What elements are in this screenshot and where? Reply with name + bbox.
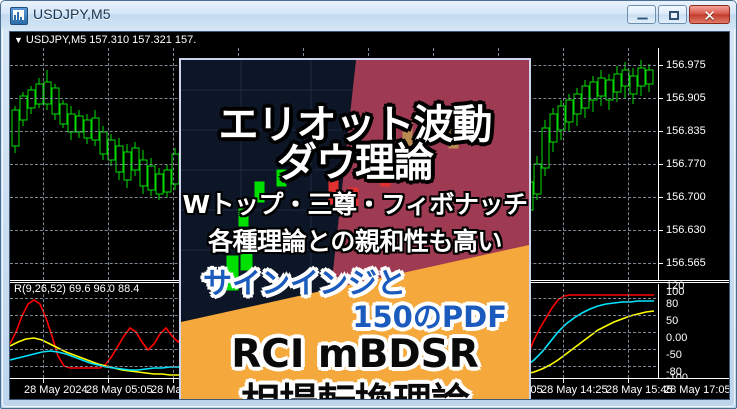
indicator-label: -50 (666, 349, 682, 361)
minimize-button[interactable] (627, 5, 656, 24)
price-axis: 156.975 156.905 156.835 156.770 156.700 … (658, 48, 730, 280)
time-label: 28 May 14:25 (541, 384, 608, 396)
title-bar: USDJPY,M5 ✕ (1, 1, 737, 29)
close-icon: ✕ (690, 7, 729, 25)
minimize-icon (637, 17, 648, 20)
price-label: 156.565 (666, 257, 706, 269)
chart-client-area[interactable]: ▼USDJPY,M5 157.310 157.321 157. (9, 31, 730, 400)
chevron-down-icon[interactable]: ▼ (14, 35, 23, 45)
time-label: 28 May 15:45 (606, 384, 673, 396)
price-label: 156.905 (666, 92, 706, 104)
chart-icon (10, 7, 28, 25)
overlay-line-7: RCI mBDSR (181, 332, 529, 377)
price-label: 156.700 (666, 191, 706, 203)
window-title: USDJPY,M5 (33, 6, 111, 22)
overlay-line-8: 相場転換理論 (181, 372, 529, 400)
indicator-label: 80 (666, 298, 678, 310)
overlay-line-3: Wトップ・三尊・フィボナッチ (181, 185, 529, 221)
time-label: 28 May 2024 (24, 384, 88, 396)
indicator-label: 100 (666, 286, 684, 298)
price-label: 156.630 (666, 224, 706, 236)
price-label: 156.770 (666, 158, 706, 170)
indicator-axis: 120 100 80 50 0.00 -50 -80 -100 (658, 284, 730, 378)
chart-header-text: USDJPY,M5 157.310 157.321 157. (26, 34, 196, 46)
close-button[interactable]: ✕ (689, 5, 730, 24)
indicator-header: R(9,26,52) 69.6 96.0 88.4 (14, 283, 139, 295)
overlay-line-6: 150のPDF (181, 294, 529, 336)
maximize-icon (669, 11, 679, 20)
chart-header: ▼USDJPY,M5 157.310 157.321 157. (14, 34, 196, 47)
indicator-label: 50 (666, 315, 678, 327)
application-window: USDJPY,M5 ✕ ▼USDJPY,M5 157.310 157.321 1… (0, 0, 737, 409)
price-label: 156.835 (666, 125, 706, 137)
overlay-line-4: 各種理論との親和性も高い (181, 222, 529, 258)
price-label: 156.975 (666, 59, 706, 71)
overlay-line-2: ダウ理論 (181, 130, 529, 188)
indicator-label: 0.00 (666, 332, 687, 344)
time-label: 28 May 17:05 (664, 384, 730, 396)
time-label: 28 May 05:05 (86, 384, 153, 396)
promo-overlay: エリオット波動 ダウ理論 Wトップ・三尊・フィボナッチ 各種理論との親和性も高い… (179, 58, 531, 400)
maximize-button[interactable] (658, 5, 687, 24)
